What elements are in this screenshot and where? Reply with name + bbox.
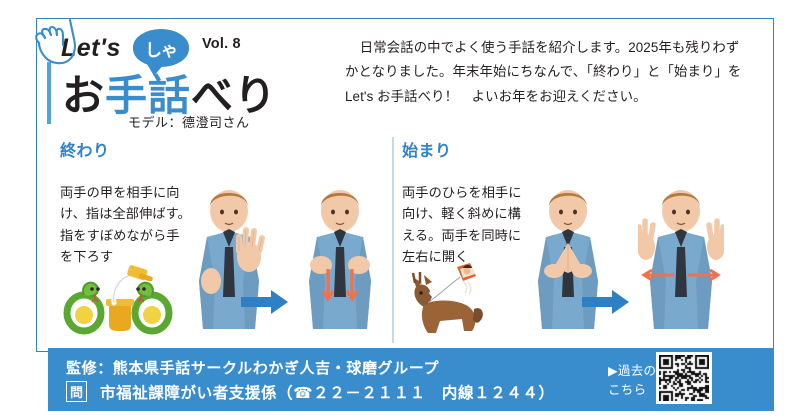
panel-description: 両手のひらを相手に向け、軽く斜めに構える。両手を同時に左右に開く <box>402 182 534 268</box>
panel-heading: 終わり <box>60 137 385 161</box>
volume-label: Vol. 8 <box>202 36 241 52</box>
supervisor-text: 監修：熊本県手話サークルわかぎ人吉・球磨グループ <box>66 357 439 378</box>
panel-owari: 終わり 両手の甲を相手に向け、指は全部伸ばす。指をすぼめながら手を下ろす <box>60 137 385 345</box>
newsletter-page: Let's しゃ Vol. 8 お手話べり モデル：德澄司さん 日常会話の中でよ… <box>0 0 800 419</box>
panel-hajimari: 始まり 両手のひらを相手に向け、軽く斜めに構える。両手を同時に左右に開く <box>402 137 732 345</box>
speech-bubble-label: しゃ <box>133 29 189 67</box>
blue-right-arrow <box>582 289 630 315</box>
title-segment-1: お <box>62 72 105 119</box>
inquiry-text: 市福祉課障がい者支援係（☎２２－２１１１ 内線１２４４） <box>100 381 555 403</box>
inquiry-badge: 問 <box>66 381 87 402</box>
horse-kite-illustration <box>402 263 512 339</box>
intro-line-2: かとなりました。年末年始にちなんで、「終わり」と「始まり」を <box>345 60 745 84</box>
photo-sequence <box>193 185 389 337</box>
panel-description: 両手の甲を相手に向け、指は全部伸ばす。指をすぼめながら手を下ろす <box>60 182 192 268</box>
intro-paragraph: 日常会話の中でよく使う手話を紹介します。2025年も残りわず かとなりました。年… <box>345 36 745 109</box>
photo-sequence <box>534 185 730 337</box>
model-palms-open-photo <box>638 185 724 335</box>
model-hands-lowering-photo <box>297 185 383 335</box>
title-accent-bar <box>47 62 51 124</box>
intro-line-1: 日常会話の中でよく使う手話を紹介します。2025年も残りわず <box>345 36 745 60</box>
panel-heading: 始まり <box>402 137 732 161</box>
snake-mochi-pounding-illustration <box>62 263 178 337</box>
model-credit: モデル：德澄司さん <box>128 112 250 131</box>
qr-code[interactable] <box>656 352 712 404</box>
speech-bubble: しゃ <box>133 29 189 67</box>
blue-right-arrow <box>241 289 289 315</box>
intro-line-3: Let's お手話べり！ よいお年をお迎えください。 <box>345 85 745 109</box>
panel-divider <box>392 137 394 343</box>
sign-language-hand-icon <box>30 14 98 68</box>
